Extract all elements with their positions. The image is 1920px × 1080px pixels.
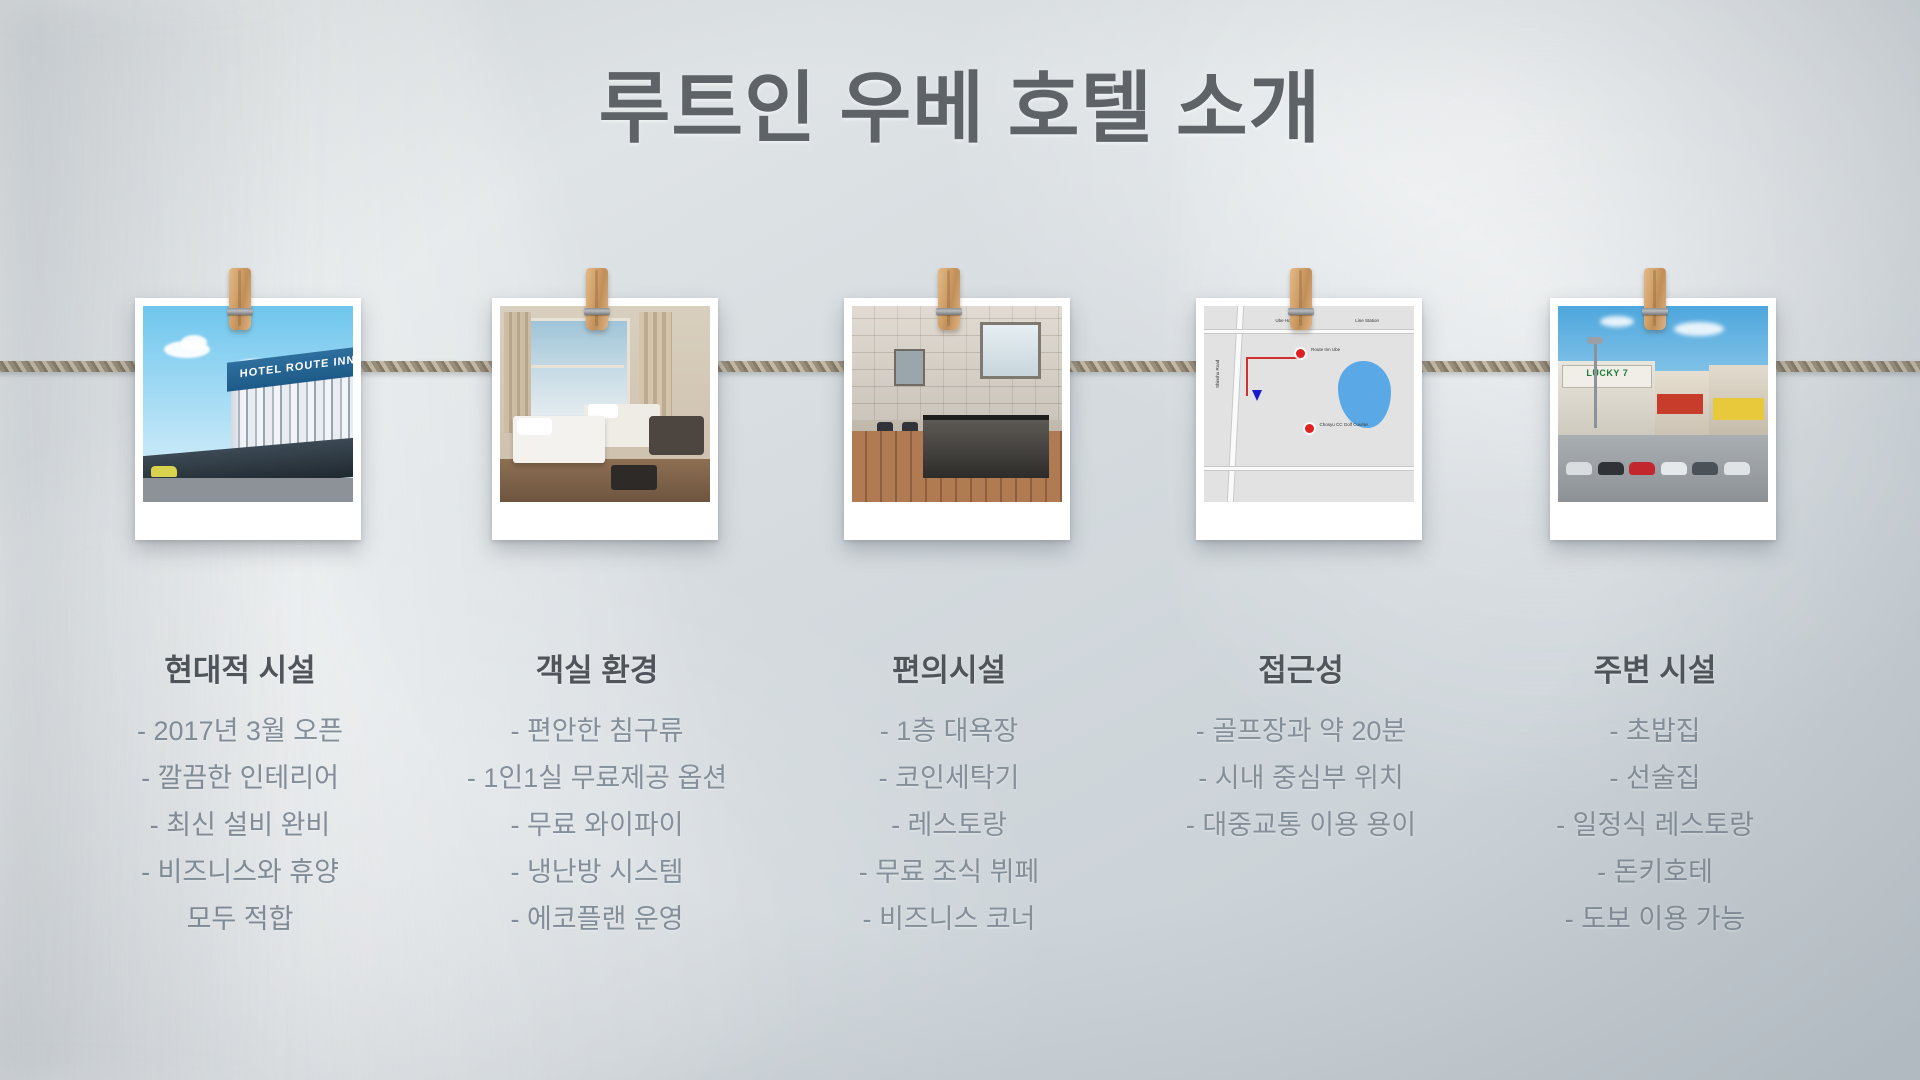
list-item: - 편안한 침구류 xyxy=(407,708,787,755)
map-label: Shinshu Road xyxy=(1215,360,1220,388)
card-heading: 주변 시설 xyxy=(1475,645,1835,690)
list-item: - 비즈니스 코너 xyxy=(759,896,1139,943)
hotel-sign-text: HOTEL ROUTE INN xyxy=(240,354,353,380)
list-item: - 최신 설비 완비 xyxy=(50,802,430,849)
list-item: - 에코플랜 운영 xyxy=(407,896,787,943)
list-item: - 돈키호테 xyxy=(1465,849,1845,896)
polaroid-frame[interactable] xyxy=(844,298,1070,540)
polaroid-frame[interactable]: LUCKY 7 xyxy=(1550,298,1776,540)
card-heading: 편의시설 xyxy=(769,645,1129,690)
clothespin-icon xyxy=(1290,268,1312,330)
list-item: - 대중교통 이용 용이 xyxy=(1111,802,1491,849)
list-item: - 비즈니스와 휴양 xyxy=(50,849,430,896)
nearby-street-photo: LUCKY 7 xyxy=(1558,306,1768,502)
card-heading: 접근성 xyxy=(1121,645,1481,690)
map-label: Chosyu CC Golf Course xyxy=(1320,422,1368,427)
list-item: - 1인1실 무료제공 옵션 xyxy=(407,755,787,802)
card-bullet-list: - 골프장과 약 20분 - 시내 중심부 위치 - 대중교통 이용 용이 xyxy=(1111,708,1491,849)
clothespin-icon xyxy=(229,268,251,330)
list-item: - 1층 대욕장 xyxy=(759,708,1139,755)
list-item: - 코인세탁기 xyxy=(759,755,1139,802)
map-label: Line Station xyxy=(1355,318,1379,323)
list-item: - 무료 와이파이 xyxy=(407,802,787,849)
list-item: - 골프장과 약 20분 xyxy=(1111,708,1491,755)
location-map-photo: Ube Hotel Line Station Shinshu Road Rout… xyxy=(1204,306,1414,502)
list-item: - 시내 중심부 위치 xyxy=(1111,755,1491,802)
card-bullet-list: - 1층 대욕장 - 코인세탁기 - 레스토랑 - 무료 조식 뷔페 - 비즈니… xyxy=(759,708,1139,943)
list-item: - 깔끔한 인테리어 xyxy=(50,755,430,802)
slide-root: 루트인 우베 호텔 소개 HOTEL ROUTE INN xyxy=(0,0,1920,1080)
shop-sign-text: LUCKY 7 xyxy=(1562,365,1652,389)
clothespin-icon xyxy=(586,268,608,330)
card-bullet-list: - 초밥집 - 선술집 - 일정식 레스토랑 - 돈키호테 - 도보 이용 가능 xyxy=(1465,708,1845,943)
guest-room-photo xyxy=(500,306,710,502)
list-item: - 냉난방 시스템 xyxy=(407,849,787,896)
list-item: - 레스토랑 xyxy=(759,802,1139,849)
list-item: - 도보 이용 가능 xyxy=(1465,896,1845,943)
list-item: 모두 적합 xyxy=(50,896,430,943)
list-item: - 무료 조식 뷔페 xyxy=(759,849,1139,896)
polaroid-frame[interactable]: Ube Hotel Line Station Shinshu Road Rout… xyxy=(1196,298,1422,540)
card-bullet-list: - 편안한 침구류 - 1인1실 무료제공 옵션 - 무료 와이파이 - 냉난방… xyxy=(407,708,787,943)
list-item: - 2017년 3월 오픈 xyxy=(50,708,430,755)
polaroid-frame[interactable]: HOTEL ROUTE INN xyxy=(135,298,361,540)
clothespin-icon xyxy=(938,268,960,330)
card-heading: 현대적 시설 xyxy=(60,645,420,690)
public-bath-photo xyxy=(852,306,1062,502)
polaroid-frame[interactable] xyxy=(492,298,718,540)
card-bullet-list: - 2017년 3월 오픈 - 깔끔한 인테리어 - 최신 설비 완비 - 비즈… xyxy=(50,708,430,943)
card-row: HOTEL ROUTE INN 현대적 시설 - 2017년 3월 오픈 - 깔… xyxy=(0,0,1920,1080)
hotel-exterior-photo: HOTEL ROUTE INN xyxy=(143,306,353,502)
list-item: - 일정식 레스토랑 xyxy=(1465,802,1845,849)
list-item: - 선술집 xyxy=(1465,755,1845,802)
map-label: Route Inn Ube xyxy=(1311,347,1340,352)
card-heading: 객실 환경 xyxy=(417,645,777,690)
list-item: - 초밥집 xyxy=(1465,708,1845,755)
clothespin-icon xyxy=(1644,268,1666,330)
